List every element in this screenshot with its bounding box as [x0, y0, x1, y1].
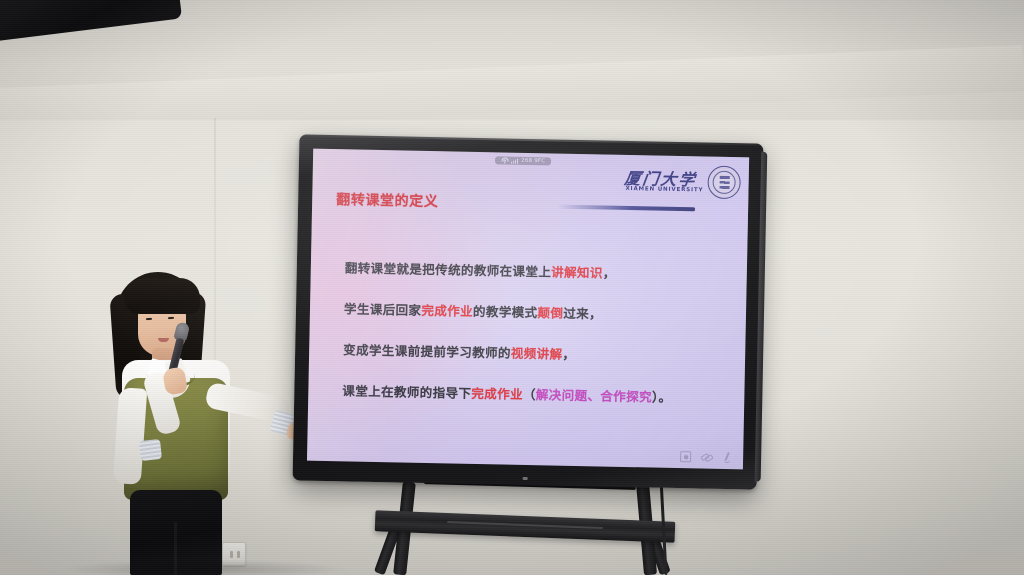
logo-english-name: XIAMEN UNIVERSITY: [625, 186, 703, 194]
wifi-icon: [501, 157, 508, 163]
slide-title: 翻转课堂的定义: [336, 189, 439, 211]
university-seal-icon: [707, 166, 741, 200]
text-segment: ，: [603, 265, 616, 280]
university-logo: 厦门大学 XIAMEN UNIVERSITY: [620, 163, 741, 207]
text-segment: 变成学生课前提前学习教师的: [343, 342, 511, 360]
slide-body-line: 课堂上在教师的指导下完成作业（解决问题、合作探究）。: [342, 380, 724, 407]
text-segment: 视频讲解: [511, 346, 563, 362]
slide-tool-icons[interactable]: [680, 451, 733, 463]
text-segment: 过来，: [563, 306, 602, 322]
status-bar-label: 268 9FC: [521, 158, 545, 164]
text-segment: 完成作业: [421, 303, 473, 319]
text-segment: 讲解知识: [551, 264, 603, 280]
link-icon[interactable]: [701, 452, 712, 463]
text-segment: ）。: [652, 390, 672, 405]
interactive-display[interactable]: 268 9FC 翻转课堂的定义 厦门大学 XIAMEN UNIVERSITY 翻…: [293, 134, 764, 489]
presenter-cuff-left: [139, 439, 162, 461]
classroom-scene: 268 9FC 翻转课堂的定义 厦门大学 XIAMEN UNIVERSITY 翻…: [0, 0, 1024, 575]
slide-body-line: 变成学生课前提前学习教师的视频讲解，: [343, 339, 725, 366]
signal-bars-icon: [511, 158, 518, 163]
presenter-bangs: [124, 278, 200, 314]
text-segment: 的教学模式: [473, 304, 538, 320]
text-segment: 解决问题、合作探究: [536, 387, 652, 404]
power-indicator-led: [523, 477, 528, 480]
slide-body-text: 翻转课堂就是把传统的教师在课堂上讲解知识，学生课后回家完成作业的教学模式颠倒过来…: [342, 257, 727, 429]
slide-body-line: 翻转课堂就是把传统的教师在课堂上讲解知识，: [345, 257, 727, 284]
floor-shadow: [60, 560, 350, 575]
text-segment: ，: [562, 347, 575, 362]
text-segment: 翻转课堂就是把传统的教师在课堂上: [345, 260, 552, 279]
frame-icon[interactable]: [680, 451, 691, 462]
display-screen[interactable]: 268 9FC 翻转课堂的定义 厦门大学 XIAMEN UNIVERSITY 翻…: [307, 149, 749, 470]
pen-icon[interactable]: [722, 452, 733, 463]
text-segment: 课堂上在教师的指导下: [342, 383, 471, 401]
status-bar: 268 9FC: [495, 156, 551, 165]
slide-body-line: 学生课后回家完成作业的教学模式颠倒过来，: [344, 298, 726, 325]
text-segment: 完成作业: [471, 386, 523, 402]
text-segment: 颠倒: [537, 305, 563, 321]
text-segment: 学生课后回家: [344, 301, 422, 318]
text-segment: （: [523, 387, 536, 402]
